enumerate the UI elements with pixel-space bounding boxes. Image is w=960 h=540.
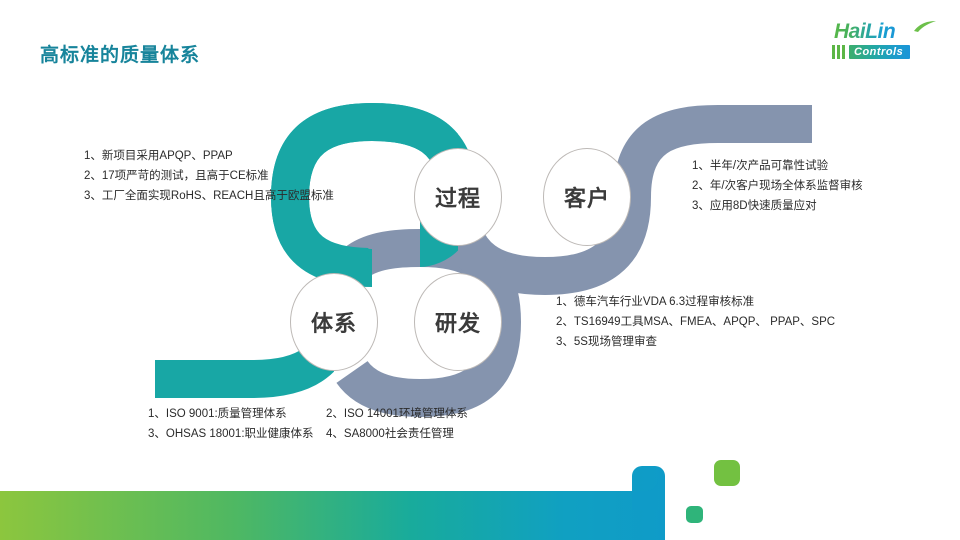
- text-line: 3、应用8D快速质量应对: [692, 196, 863, 216]
- text-block-middle: 1、德车汽车行业VDA 6.3过程审核标准 2、TS16949工具MSA、FME…: [556, 292, 835, 352]
- process-ribbon-diagram: [0, 0, 960, 540]
- text-line: 1、新项目采用APQP、PPAP: [84, 146, 334, 166]
- leaf-icon: [914, 21, 936, 32]
- text-line: 1、半年/次产品可靠性试验: [692, 156, 863, 176]
- text-line: 2、年/次客户现场全体系监督审核: [692, 176, 863, 196]
- footer-square-green: [714, 460, 740, 486]
- node-customer-label: 客户: [564, 181, 610, 213]
- text-cell: 2、ISO 14001环境管理体系: [326, 404, 506, 424]
- text-block-left: 1、新项目采用APQP、PPAP 2、17项严苛的测试，且高于CE标准 3、工厂…: [84, 146, 334, 206]
- text-line: 1、德车汽车行业VDA 6.3过程审核标准: [556, 292, 835, 312]
- text-block-right: 1、半年/次产品可靠性试验 2、年/次客户现场全体系监督审核 3、应用8D快速质…: [692, 156, 863, 216]
- node-process[interactable]: 过程: [414, 148, 502, 246]
- node-customer[interactable]: 客户: [543, 148, 631, 246]
- footer-square-small: [686, 506, 703, 523]
- logo-subbrand-label: Controls: [849, 45, 910, 59]
- text-cell: 1、ISO 9001:质量管理体系: [148, 404, 326, 424]
- text-line: 2、17项严苛的测试，且高于CE标准: [84, 166, 334, 186]
- brand-logo: HaiLin Controls: [826, 20, 944, 64]
- text-cell: 3、OHSAS 18001:职业健康体系: [148, 424, 326, 444]
- text-row: 3、OHSAS 18001:职业健康体系 4、SA8000社会责任管理: [148, 424, 506, 444]
- text-row: 1、ISO 9001:质量管理体系 2、ISO 14001环境管理体系: [148, 404, 506, 424]
- logo-wordmark: HaiLin: [834, 20, 895, 44]
- node-system[interactable]: 体系: [290, 273, 378, 371]
- node-system-label: 体系: [311, 306, 357, 338]
- text-line: 3、工厂全面实现RoHS、REACH且高于欧盟标准: [84, 186, 334, 206]
- footer-decoration: [0, 440, 960, 540]
- text-block-bottom: 1、ISO 9001:质量管理体系 2、ISO 14001环境管理体系 3、OH…: [148, 404, 506, 444]
- text-line: 3、5S现场管理审查: [556, 332, 835, 352]
- footer-hook: [632, 479, 658, 510]
- slide-root: 高标准的质量体系 HaiLin Controls: [0, 0, 960, 540]
- footer-bar: [0, 466, 665, 540]
- logo-subbrand: Controls: [832, 45, 910, 59]
- logo-bars-icon: [832, 45, 845, 59]
- node-process-label: 过程: [435, 181, 481, 213]
- page-title: 高标准的质量体系: [40, 40, 200, 67]
- text-line: 2、TS16949工具MSA、FMEA、APQP、 PPAP、SPC: [556, 312, 835, 332]
- text-cell: 4、SA8000社会责任管理: [326, 424, 506, 444]
- node-rd[interactable]: 研发: [414, 273, 502, 371]
- node-rd-label: 研发: [435, 306, 481, 338]
